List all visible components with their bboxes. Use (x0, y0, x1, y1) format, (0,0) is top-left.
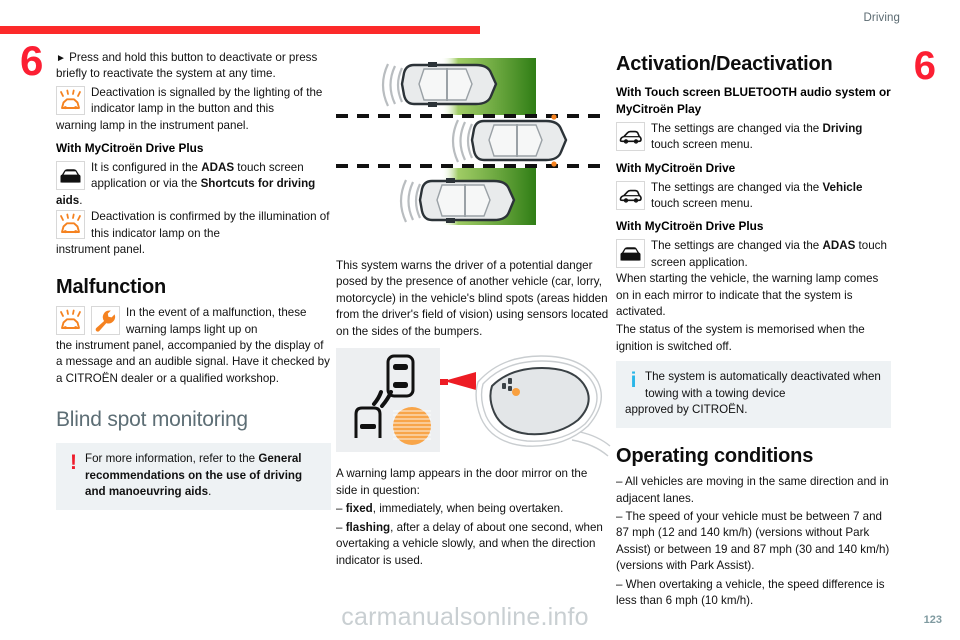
bullet-fixed: – fixed, immediately, when being overtak… (336, 501, 611, 517)
touchscreen-settings-block: The settings are changed via the Driving… (616, 121, 891, 154)
car-front-solid-icon-2 (616, 239, 645, 268)
intro-paragraph: ► Press and hold this button to deactiva… (56, 50, 331, 83)
vehicle-menu-bold: Vehicle (822, 181, 862, 194)
figure-blind-spot-lanes (336, 50, 611, 250)
driveplus-settings-text: The settings are changed via the ADAS to… (651, 239, 887, 268)
section-label: Driving (864, 12, 901, 24)
system-warns-paragraph: This system warns the driver of a potent… (336, 258, 611, 340)
info-i-icon: i (625, 370, 642, 391)
condition-item-1: – All vehicles are moving in the same di… (616, 474, 891, 507)
chapter-number-right: 6 (914, 46, 936, 86)
warning-callout-text: For more information, refer to the Gener… (85, 451, 322, 500)
bullet-fixed-rest: , immediately, when being overtaken. (373, 502, 564, 515)
middle-column: This system warns the driver of a potent… (336, 50, 611, 571)
warning-callout-left: ! For more information, refer to the Gen… (56, 443, 331, 509)
bullet-fixed-bold: fixed (346, 502, 373, 515)
adas-config-block: It is configured in the ADAS touch scree… (56, 160, 331, 209)
drive-pre: The settings are changed via the (651, 181, 822, 194)
car-side-outline-icon-2 (616, 181, 645, 210)
figure-mirror-warning-lamp (336, 348, 611, 458)
bullet-flashing: – flashing, after a delay of about one s… (336, 520, 611, 569)
touchscreen-settings-text: The settings are changed via the Driving… (651, 122, 862, 151)
subheading-touchscreen-bluetooth: With Touch screen BLUETOOTH audio system… (616, 84, 891, 118)
starting-vehicle-paragraph: When starting the vehicle, the warning l… (616, 271, 891, 320)
driveplus-settings-block: The settings are changed via the ADAS to… (616, 238, 891, 271)
deactivation-confirmed-text: Deactivation is confirmed by the illumin… (91, 210, 329, 239)
page-number: 123 (924, 614, 942, 626)
malfunction-block: In the event of a malfunction, these war… (56, 305, 331, 338)
deactivation-signalled-text-cont: warning lamp in the instrument panel. (56, 118, 331, 134)
spanner-wrench-icon (91, 306, 120, 335)
warning-callout-pre: For more information, refer to the (85, 452, 258, 465)
subheading-mycitroen-drive-plus: With MyCitroën Drive Plus (616, 218, 891, 235)
driveplus-pre: The settings are changed via the (651, 239, 822, 252)
drive-settings-block: The settings are changed via the Vehicle… (616, 180, 891, 213)
right-column: Activation/Deactivation With Touch scree… (616, 50, 891, 612)
deactivation-confirmed-block: Deactivation is confirmed by the illumin… (56, 209, 331, 242)
manual-page: Driving 6 6 ► Press and hold this button… (0, 0, 960, 640)
info-callout-right: i The system is automatically deactivate… (616, 361, 891, 427)
warning-callout-end: . (208, 485, 211, 498)
subheading-drive-plus: With MyCitroën Drive Plus (56, 140, 331, 157)
blindspot-warning-lamp-icon (56, 86, 85, 115)
left-column: ► Press and hold this button to deactiva… (56, 50, 331, 516)
adas-config-end: . (79, 194, 82, 207)
drive-settings-text: The settings are changed via the Vehicle… (651, 181, 862, 210)
adas-bold: ADAS (201, 161, 234, 174)
info-callout-text: The system is automatically deactivated … (645, 369, 882, 402)
adas-app-bold: ADAS (822, 239, 855, 252)
malfunction-text-cont: the instrument panel, accompanied by the… (56, 338, 331, 387)
activation-deactivation-heading: Activation/Deactivation (616, 50, 891, 78)
status-memorised-paragraph: The status of the system is memorised wh… (616, 322, 891, 355)
malfunction-heading: Malfunction (56, 273, 331, 301)
malfunction-text: In the event of a malfunction, these war… (126, 306, 306, 335)
chapter-number-left: 6 (20, 40, 43, 82)
car-side-outline-icon (616, 122, 645, 151)
exclamation-warning-icon: ! (65, 452, 82, 473)
bullet-flashing-dash: – (336, 521, 342, 534)
driving-menu-bold: Driving (822, 122, 862, 135)
info-callout-text-after: approved by CITROËN. (625, 402, 882, 418)
deactivation-confirmed-cont: instrument panel. (56, 242, 331, 258)
bullet-fixed-dash: – (336, 502, 342, 515)
blindspot-warning-lamp-icon-2 (56, 210, 85, 239)
adas-config-pre: It is configured in the (91, 161, 201, 174)
touchscreen-end: touch screen menu. (651, 138, 753, 151)
blind-spot-monitoring-heading: Blind spot monitoring (56, 405, 331, 435)
deactivation-signalled-block: Deactivation is signalled by the lightin… (56, 85, 331, 118)
warning-lamp-intro: A warning lamp appears in the door mirro… (336, 466, 611, 499)
touchscreen-pre: The settings are changed via the (651, 122, 822, 135)
site-watermark: carmanualsonline.info (0, 603, 960, 632)
subheading-mycitroen-drive: With MyCitroën Drive (616, 160, 891, 177)
intro-text: Press and hold this button to deactivate… (56, 51, 317, 80)
adas-config-text: It is configured in the ADAS touch scree… (56, 161, 315, 207)
condition-item-2: – The speed of your vehicle must be betw… (616, 509, 891, 575)
operating-conditions-heading: Operating conditions (616, 442, 891, 470)
drive-end: touch screen menu. (651, 197, 753, 210)
arrow-bullet-icon: ► (56, 53, 66, 64)
bullet-flashing-bold: flashing (346, 521, 390, 534)
blindspot-warning-lamp-icon-3 (56, 306, 85, 335)
header-red-rule (0, 26, 480, 34)
car-front-solid-icon (56, 161, 85, 190)
deactivation-signalled-text: Deactivation is signalled by the lightin… (91, 86, 322, 115)
